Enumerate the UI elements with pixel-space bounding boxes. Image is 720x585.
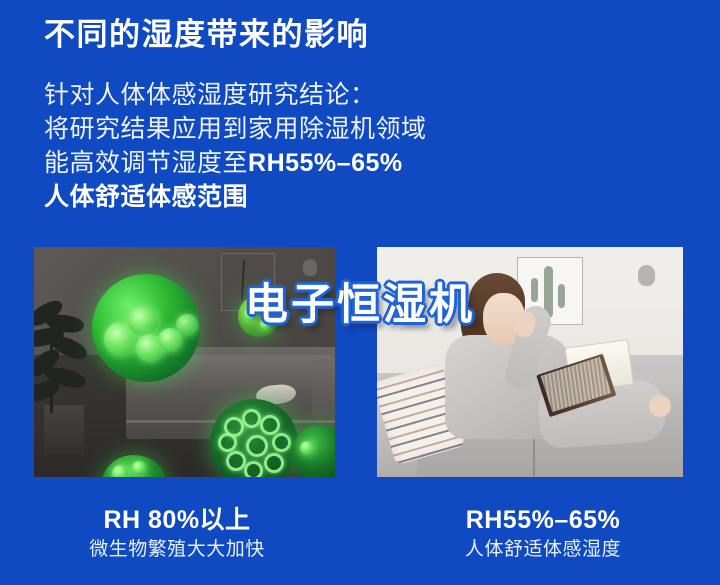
caption-right-title: RH55%–65% bbox=[366, 505, 720, 535]
microbe-spore bbox=[260, 319, 271, 330]
virus-spike bbox=[264, 453, 284, 473]
image-panel-comfort-humidity bbox=[377, 247, 683, 477]
virus-spike bbox=[226, 451, 246, 471]
woman-reading-figure bbox=[421, 273, 651, 473]
microbe-cluster-icon bbox=[238, 295, 280, 337]
microbe-spore bbox=[300, 441, 314, 455]
intro-line-2: 将研究结果应用到家用除湿机领域 bbox=[44, 112, 544, 146]
caption-left-subtitle: 微生物繁殖大大加快 bbox=[0, 537, 354, 563]
caption-left-title: RH 80%以上 bbox=[0, 505, 354, 535]
virus-spike bbox=[242, 409, 261, 428]
intro-line-4: 人体舒适体感范围 bbox=[44, 180, 544, 214]
virus-core bbox=[246, 435, 268, 457]
caption-high-humidity: RH 80%以上 微生物繁殖大大加快 bbox=[0, 505, 360, 563]
wall-lamp-icon bbox=[303, 259, 317, 276]
virus-spike bbox=[260, 415, 280, 435]
virus-particle-icon bbox=[210, 399, 298, 477]
microbe-spore bbox=[244, 309, 256, 321]
intro-line-1: 针对人体体感湿度研究结论： bbox=[44, 78, 544, 112]
virus-spike bbox=[244, 461, 263, 477]
dark-room-scene bbox=[34, 247, 335, 477]
intro-line-3-prefix: 能高效调节湿度至 bbox=[44, 149, 248, 177]
panel-captions: RH 80%以上 微生物繁殖大大加快 RH55%–65% 人体舒适体感湿度 bbox=[0, 505, 720, 563]
microbe-spore bbox=[128, 306, 158, 336]
microbe-cluster-icon bbox=[92, 274, 200, 382]
plant-leaf bbox=[34, 378, 62, 405]
bright-room-scene bbox=[377, 247, 683, 477]
microbe-spore bbox=[258, 303, 268, 313]
humidity-infographic-poster: 不同的湿度带来的影响 针对人体体感湿度研究结论： 将研究结果应用到家用除湿机领域… bbox=[0, 0, 720, 585]
caption-comfort-humidity: RH55%–65% 人体舒适体感湿度 bbox=[360, 505, 720, 563]
intro-paragraph: 针对人体体感湿度研究结论： 将研究结果应用到家用除湿机领域 能高效调节湿度至RH… bbox=[44, 78, 544, 214]
foot bbox=[649, 395, 671, 417]
page-title: 不同的湿度带来的影响 bbox=[44, 16, 369, 53]
twig-artwork-icon bbox=[241, 260, 245, 300]
virus-spike bbox=[272, 433, 291, 452]
image-panel-high-humidity bbox=[34, 247, 335, 477]
microbe-spore bbox=[176, 314, 198, 336]
virus-spike bbox=[218, 433, 237, 452]
caption-right-subtitle: 人体舒适体感湿度 bbox=[366, 537, 720, 563]
intro-line-3-range: RH55%–65% bbox=[248, 149, 403, 177]
intro-line-3: 能高效调节湿度至RH55%–65% bbox=[44, 146, 544, 180]
dark-sofa-arm bbox=[312, 359, 335, 419]
microbe-spore bbox=[112, 465, 128, 477]
microbe-spore bbox=[132, 461, 146, 475]
